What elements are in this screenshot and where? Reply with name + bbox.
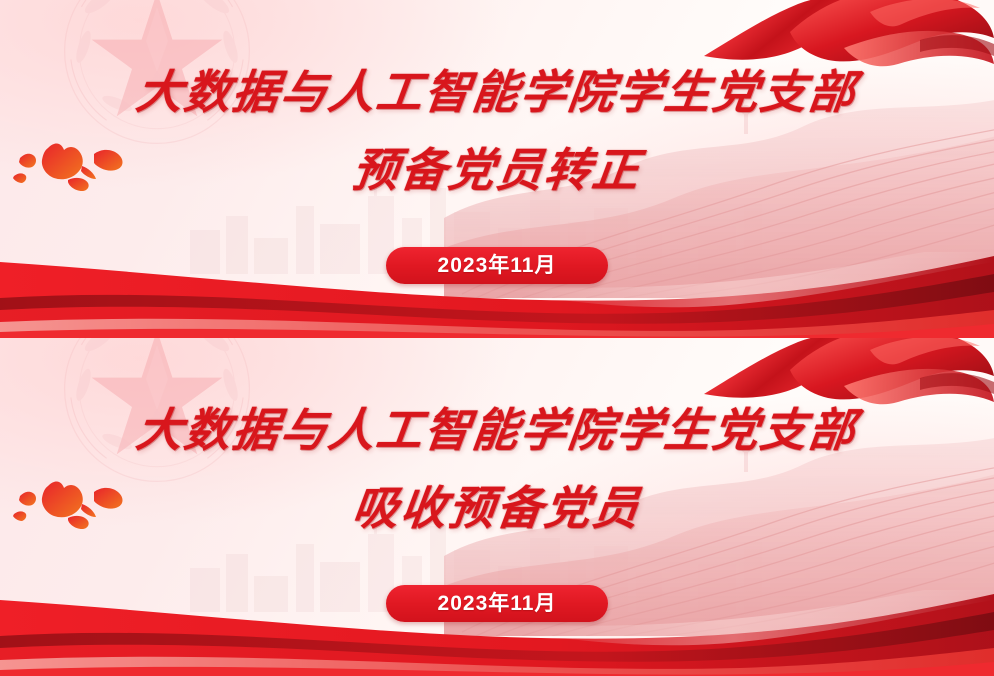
banner-2-title-line-2: 吸收预备党员 (0, 472, 994, 538)
banner-2-date-badge: 2023年11月 (386, 585, 608, 622)
banner-2-title-line-1: 大数据与人工智能学院学生党支部 (0, 394, 994, 460)
banner-1-title-line-2: 预备党员转正 (0, 134, 994, 200)
banner-1-title-line-1: 大数据与人工智能学院学生党支部 (0, 56, 994, 122)
banner-1-date-badge: 2023年11月 (386, 247, 608, 284)
banner-preparatory-member-conversion: 大数据与人工智能学院学生党支部 预备党员转正 2023年11月 (0, 0, 994, 338)
banner-1-title-block: 大数据与人工智能学院学生党支部 预备党员转正 (0, 0, 994, 338)
banner-absorb-preparatory-member: 大数据与人工智能学院学生党支部 吸收预备党员 2023年11月 (0, 338, 994, 676)
poster-stage: 大数据与人工智能学院学生党支部 预备党员转正 2023年11月 (0, 0, 994, 676)
banner-2-title-block: 大数据与人工智能学院学生党支部 吸收预备党员 (0, 338, 994, 676)
